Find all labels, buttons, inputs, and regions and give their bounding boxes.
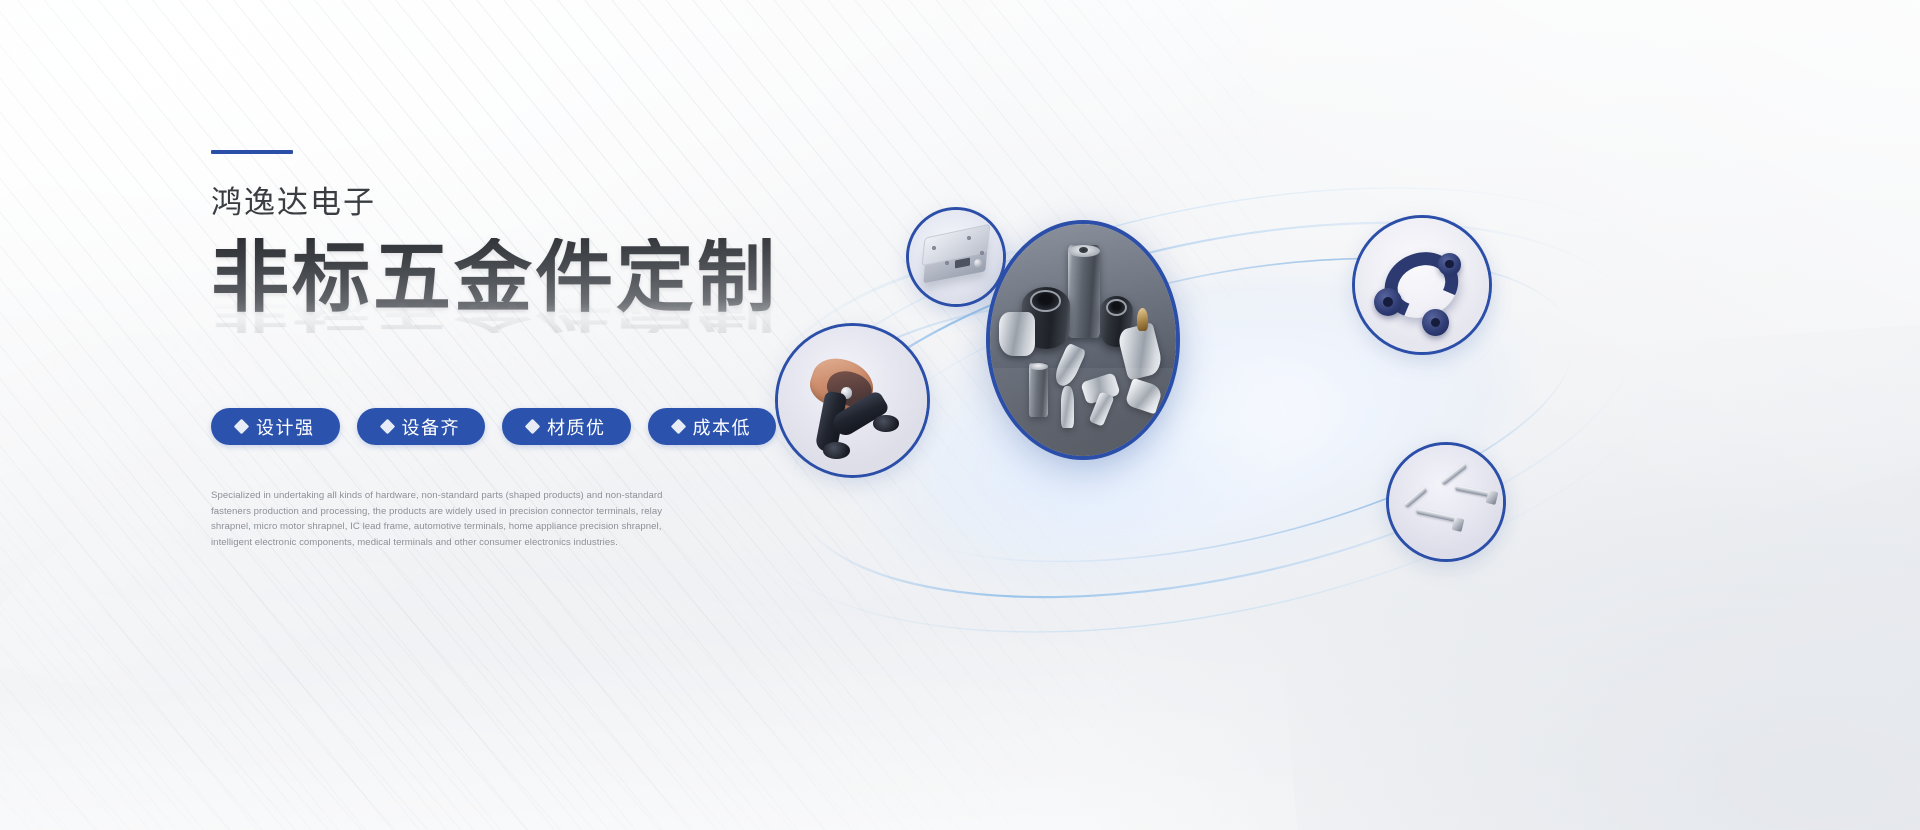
feature-pill-label: 设备齐 bbox=[402, 414, 461, 440]
part-bullet-pin bbox=[1061, 386, 1074, 428]
c-clip-lug-left bbox=[1374, 288, 1402, 316]
pin-a-segment-1 bbox=[1441, 464, 1467, 486]
feature-pill-label: 设计强 bbox=[256, 414, 315, 440]
part-threaded-stud bbox=[1051, 342, 1087, 388]
product-node-blue-c-retaining-clip[interactable] bbox=[1352, 215, 1492, 355]
ring-bore bbox=[1030, 290, 1061, 311]
pin-a-tip bbox=[1486, 490, 1499, 505]
diamond-icon bbox=[379, 419, 395, 435]
headline-block: 非标五金件定制 非标五金件定制 bbox=[211, 238, 971, 374]
pin-b-segment-1 bbox=[1403, 487, 1427, 508]
socket-bore bbox=[1106, 299, 1127, 316]
feature-pill-material[interactable]: 材质优 bbox=[502, 408, 631, 445]
hero-banner: 鸿逸达电子 非标五金件定制 非标五金件定制 设计强 设备齐 材质优 成本低 bbox=[0, 0, 1920, 830]
hero-content: 鸿逸达电子 非标五金件定制 非标五金件定制 设计强 设备齐 材质优 成本低 bbox=[211, 150, 971, 550]
pin-b-tip bbox=[1451, 517, 1464, 532]
feature-pill-cost[interactable]: 成本低 bbox=[648, 408, 777, 445]
part-tall-cylinder bbox=[1068, 245, 1100, 338]
feature-pill-label: 材质优 bbox=[547, 414, 606, 440]
diamond-icon bbox=[234, 419, 250, 435]
accent-rule bbox=[211, 150, 293, 154]
headline-reflection: 非标五金件定制 bbox=[211, 292, 778, 333]
small-cylinder-top bbox=[1029, 363, 1048, 370]
c-clip-lug-bottom bbox=[1422, 309, 1449, 336]
part-stamped-blade bbox=[1124, 378, 1163, 414]
description-paragraph: Specialized in undertaking all kinds of … bbox=[211, 488, 681, 550]
part-stamped-bracket bbox=[1116, 322, 1164, 381]
product-node-bent-metal-pins[interactable] bbox=[1386, 442, 1506, 562]
feature-pill-row: 设计强 设备齐 材质优 成本低 bbox=[211, 408, 971, 445]
bent-pins-image bbox=[1389, 445, 1503, 559]
part-left-connector bbox=[999, 312, 1034, 356]
part-small-cylinder bbox=[1029, 363, 1048, 416]
feature-pill-label: 成本低 bbox=[693, 414, 752, 440]
machined-parts-image bbox=[990, 224, 1176, 456]
product-node-machined-metal-parts[interactable] bbox=[986, 220, 1180, 460]
feature-pill-equipment[interactable]: 设备齐 bbox=[357, 408, 486, 445]
c-clip-lug-top bbox=[1438, 253, 1461, 276]
diamond-icon bbox=[670, 419, 686, 435]
part-angled-fitting-leg bbox=[1089, 392, 1115, 428]
c-clip-image bbox=[1355, 218, 1489, 352]
part-brass-tip bbox=[1137, 308, 1148, 331]
part-angled-fitting bbox=[1080, 372, 1121, 405]
diamond-icon bbox=[525, 419, 541, 435]
feature-pill-design[interactable]: 设计强 bbox=[211, 408, 340, 445]
brand-subtitle: 鸿逸达电子 bbox=[211, 186, 971, 220]
